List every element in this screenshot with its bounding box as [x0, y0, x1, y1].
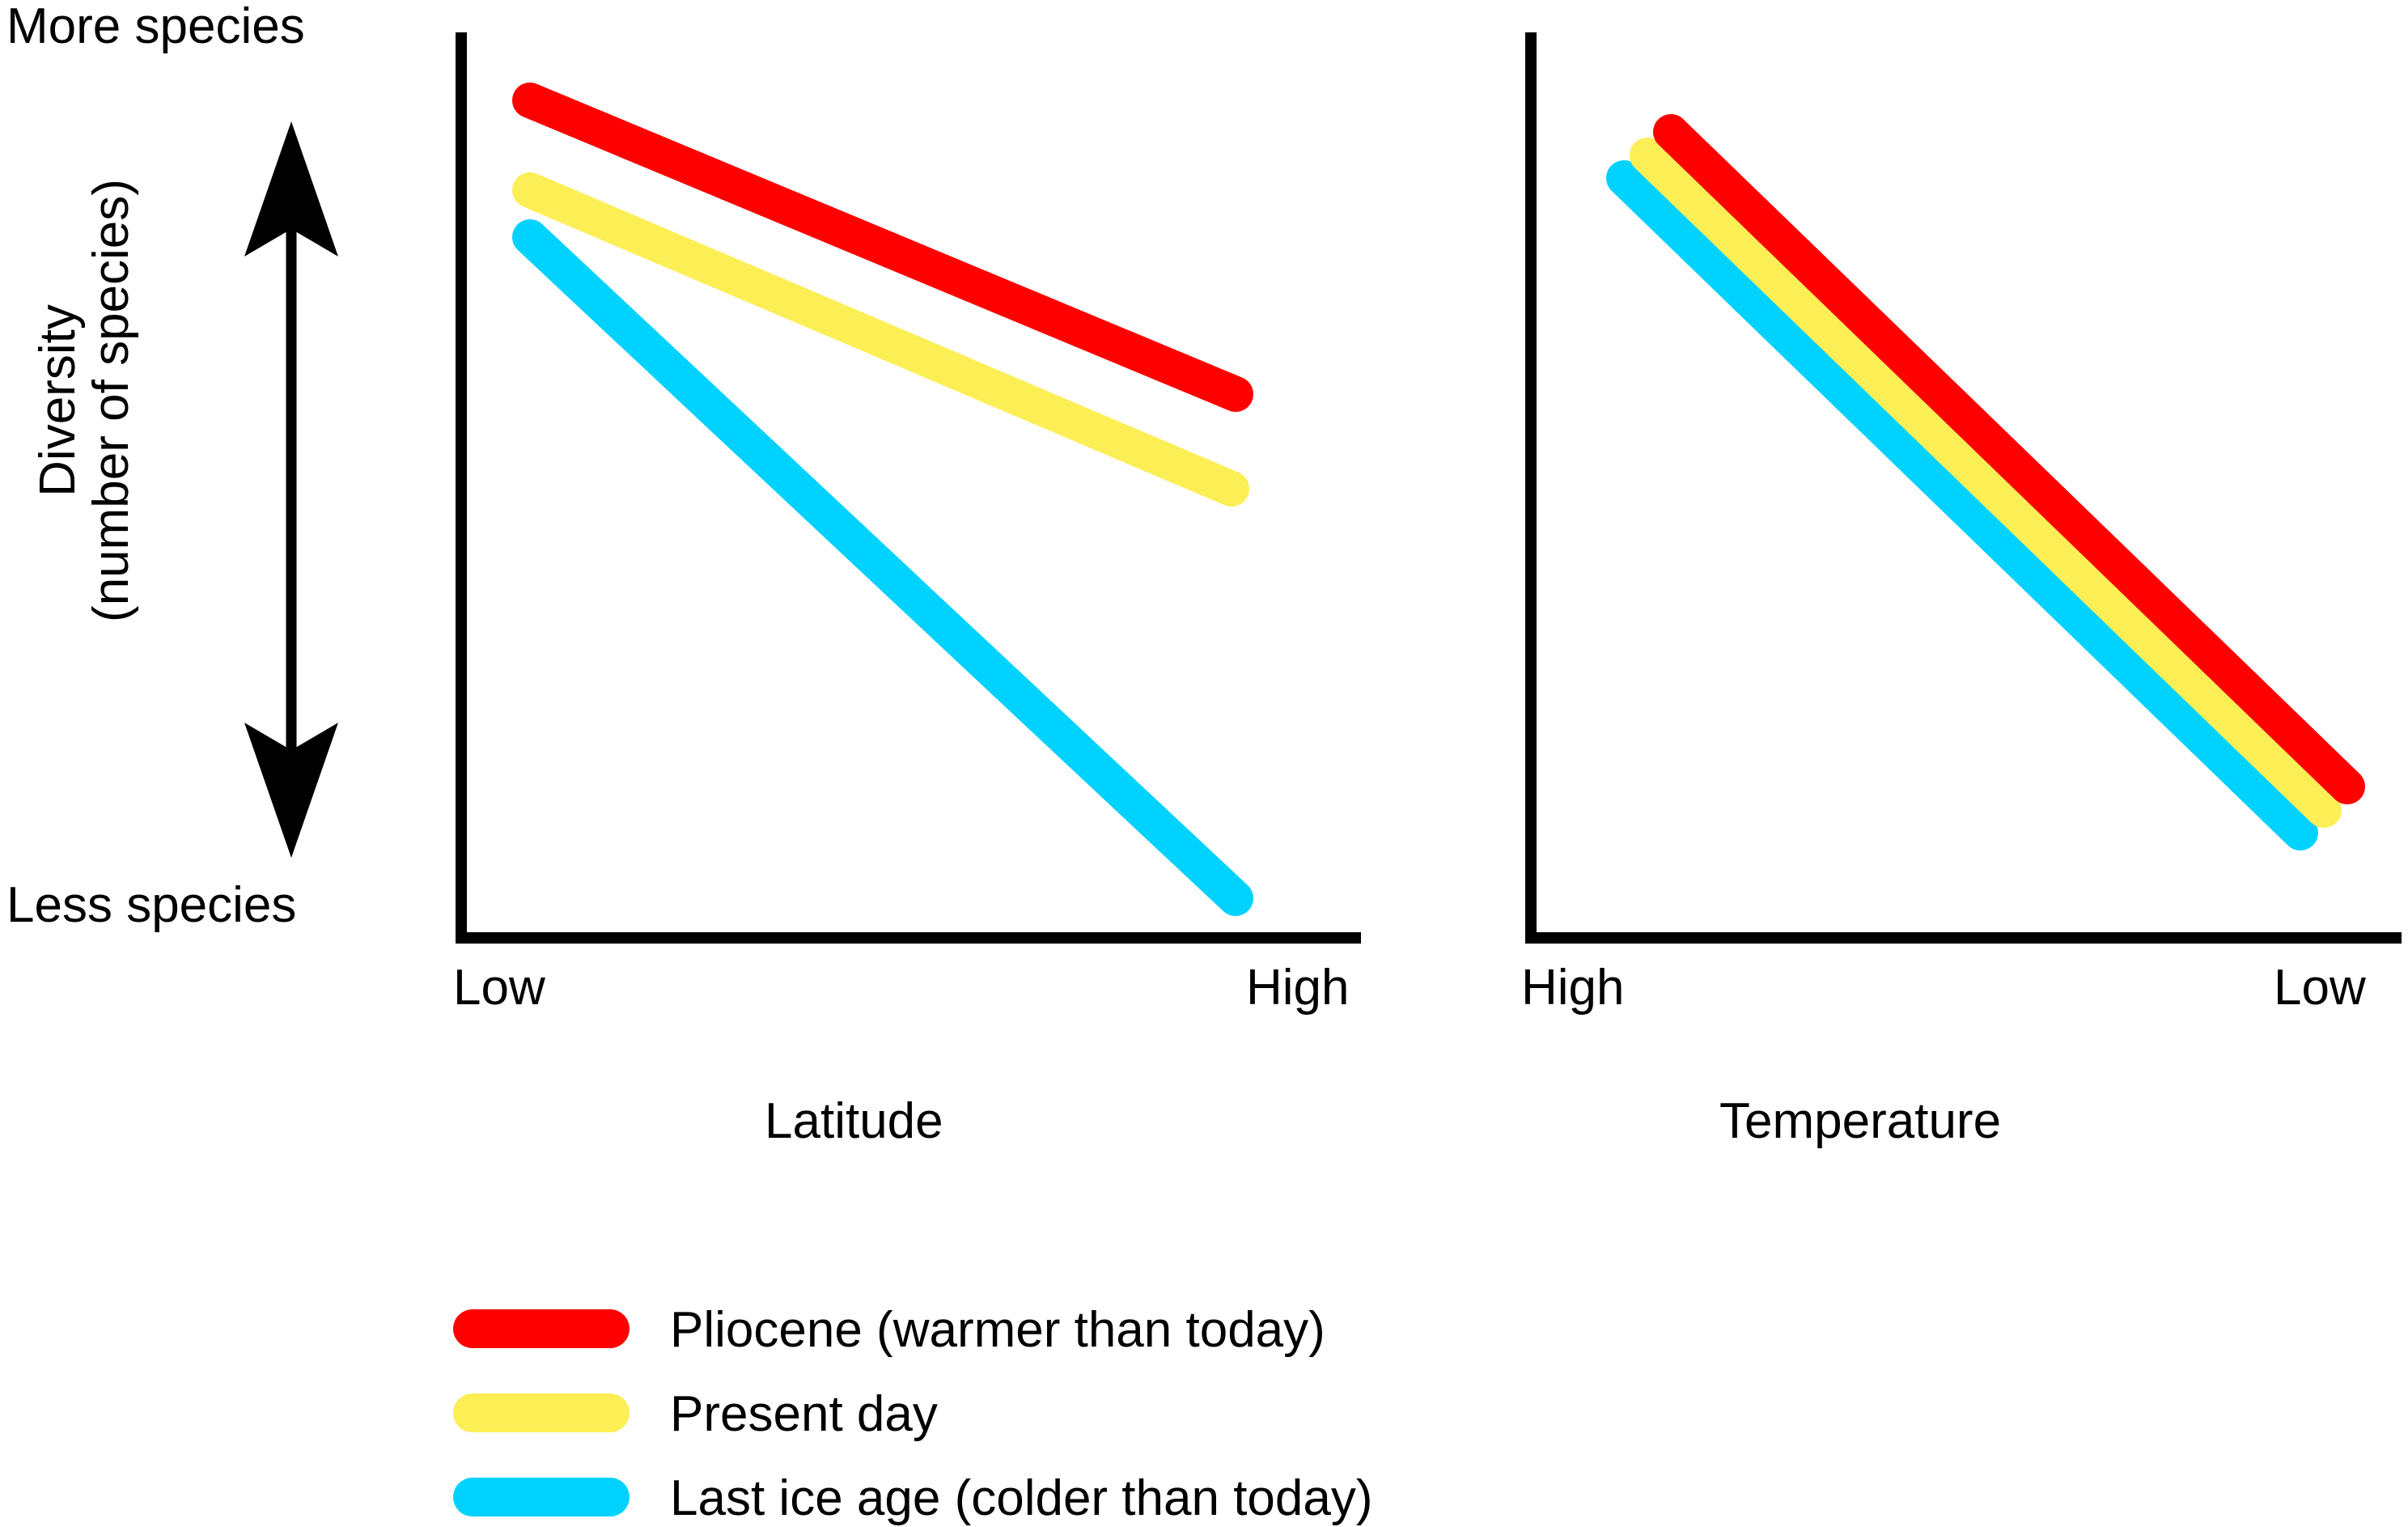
figure-root: More species Less species Diversity (num…	[0, 0, 2408, 1522]
legend-swatch-present-day	[453, 1393, 630, 1432]
left-panel-series	[530, 100, 1236, 898]
right-panel-series	[1624, 132, 2347, 833]
legend-swatch-pliocene	[453, 1309, 630, 1348]
right-panel-line-present-day	[1647, 155, 2324, 810]
diversity-direction-arrow	[244, 121, 338, 858]
legend	[453, 1309, 630, 1516]
legend-swatch-last-ice-age	[453, 1478, 630, 1516]
right-panel-line-last-ice-age	[1624, 178, 2300, 833]
plot-canvas	[0, 0, 2408, 1522]
right-panel-line-pliocene	[1671, 132, 2347, 787]
